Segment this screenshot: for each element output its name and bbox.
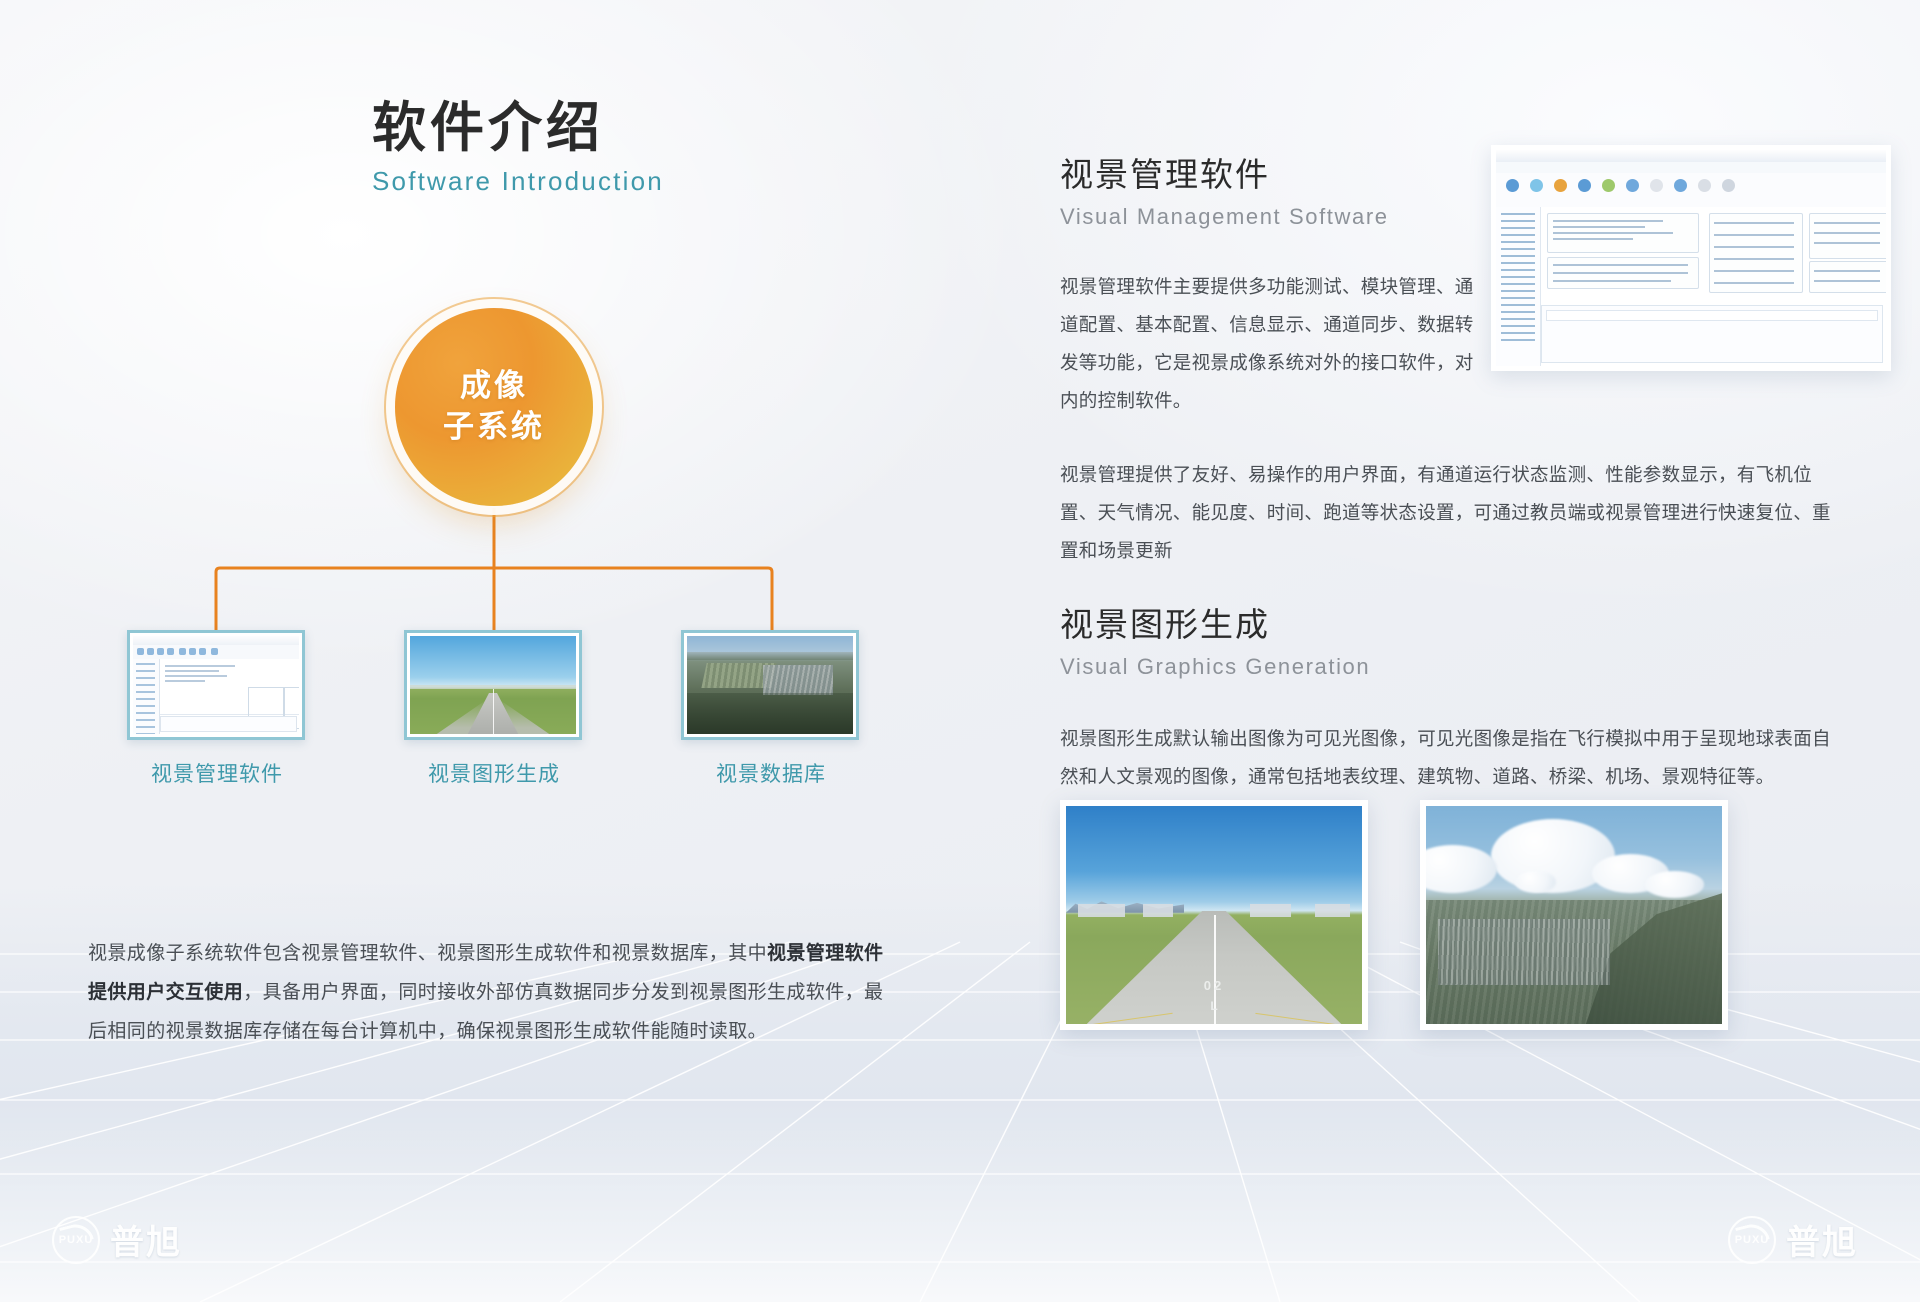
thumbnail-app-screenshot (127, 630, 305, 740)
section-subheading: Visual Management Software (1060, 204, 1490, 230)
thumbnail-runway-view (404, 630, 582, 740)
hub-label-line1: 成像 (460, 366, 528, 407)
right-column: 视景管理软件 Visual Management Software 视景管理软件… (1060, 0, 1920, 1302)
brand-mark-text: PUXU (1735, 1234, 1770, 1246)
diagram-node-management-software[interactable]: 视景管理软件 (127, 630, 307, 788)
section-heading: 视景图形生成 (1060, 598, 1860, 646)
slide-page: 软件介绍 Software Introduction 成像 子系统 (0, 0, 1920, 1302)
puxu-mark-icon: PUXU (52, 1216, 100, 1264)
brand-logo-left: PUXU 普旭 (52, 1215, 182, 1264)
page-title-block: 软件介绍 Software Introduction (372, 98, 664, 197)
brand-mark-text: PUXU (59, 1234, 94, 1246)
section-subheading: Visual Graphics Generation (1060, 654, 1860, 680)
software-window-screenshot (1491, 145, 1891, 371)
brand-wordmark: 普旭 (1786, 1215, 1858, 1264)
section-visual-management-software: 视景管理软件 Visual Management Software 视景管理软件… (1060, 148, 1490, 569)
gallery-image-aerial-city (1420, 800, 1728, 1030)
diagram-node-label: 视景数据库 (681, 758, 861, 788)
brand-logo-right: PUXU 普旭 (1728, 1215, 1858, 1264)
gallery-image-runway: 02 L (1060, 800, 1368, 1030)
section-heading: 视景管理软件 (1060, 148, 1490, 196)
page-title: 软件介绍 (372, 98, 664, 158)
runway-marking-sub: L (1210, 999, 1217, 1013)
section-paragraph: 视景管理软件主要提供多功能测试、模块管理、通道配置、基本配置、信息显示、通道同步… (1060, 268, 1478, 420)
thumbnail-aerial-airport (681, 630, 859, 740)
page-subtitle: Software Introduction (372, 166, 664, 197)
image-gallery: 02 L (1060, 800, 1920, 1040)
section-visual-graphics-generation: 视景图形生成 Visual Graphics Generation 视景图形生成… (1060, 598, 1860, 796)
brand-wordmark: 普旭 (110, 1215, 182, 1264)
diagram-node-label: 视景图形生成 (404, 758, 584, 788)
diagram-node-graphics-generation[interactable]: 视景图形生成 (404, 630, 584, 788)
summary-paragraph: 视景成像子系统软件包含视景管理软件、视景图形生成软件和视景数据库，其中视景管理软… (88, 935, 888, 1052)
summary-part1: 视景成像子系统软件包含视景管理软件、视景图形生成软件和视景数据库，其中 (88, 943, 767, 964)
left-column: 软件介绍 Software Introduction 成像 子系统 (0, 0, 1000, 1302)
puxu-mark-icon: PUXU (1728, 1216, 1776, 1264)
architecture-diagram: 成像 子系统 (0, 300, 1000, 820)
hub-label-line2: 子系统 (443, 407, 545, 448)
hub-node: 成像 子系统 (395, 308, 593, 506)
diagram-node-visual-database[interactable]: 视景数据库 (681, 630, 861, 788)
section-paragraph: 视景管理提供了友好、易操作的用户界面，有通道运行状态监测、性能参数显示，有飞机位… (1060, 456, 1840, 570)
diagram-node-label: 视景管理软件 (127, 758, 307, 788)
runway-marking: 02 (1204, 978, 1224, 993)
section-paragraph: 视景图形生成默认输出图像为可见光图像，可见光图像是指在飞行模拟中用于呈现地球表面… (1060, 720, 1842, 796)
